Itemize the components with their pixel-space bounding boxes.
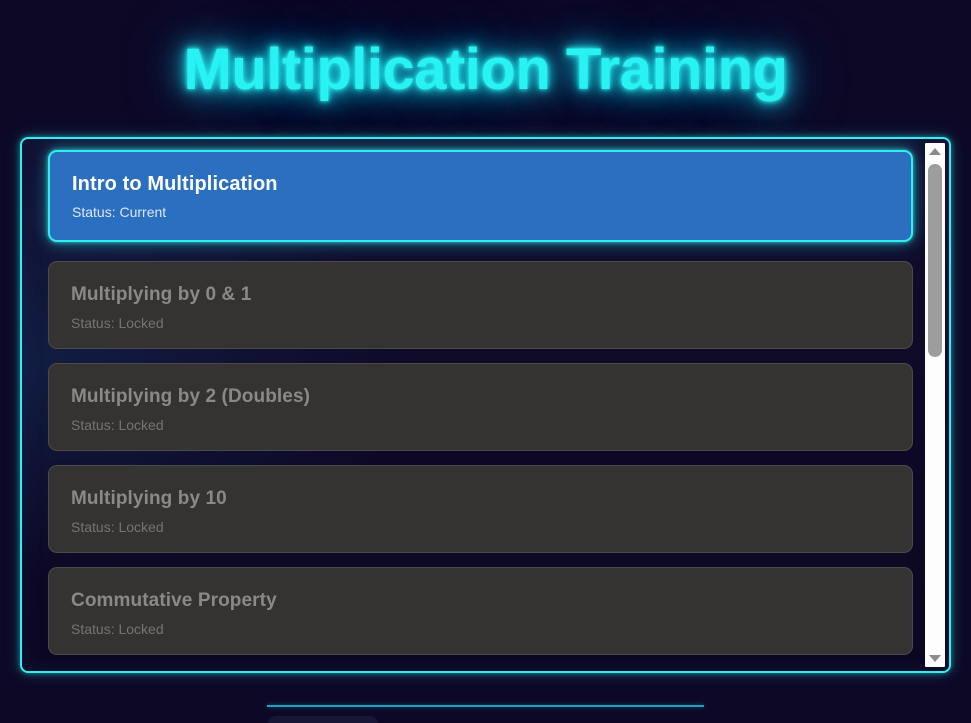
bottom-divider bbox=[267, 705, 704, 707]
lesson-card: Multiplying by 10Status: Locked bbox=[48, 465, 913, 553]
lesson-title: Multiplying by 10 bbox=[71, 487, 890, 511]
lesson-list-panel: Intro to MultiplicationStatus: CurrentMu… bbox=[20, 137, 951, 673]
page-title: Multiplication Training bbox=[0, 36, 971, 104]
lesson-title: Multiplying by 0 & 1 bbox=[71, 283, 890, 307]
scroll-down-button[interactable] bbox=[925, 650, 945, 667]
lesson-card: Multiplying by 0 & 1Status: Locked bbox=[48, 261, 913, 349]
lesson-card: Multiplying by 2 (Doubles)Status: Locked bbox=[48, 363, 913, 451]
lesson-status: Status: Locked bbox=[71, 313, 890, 333]
scroll-up-button[interactable] bbox=[925, 143, 945, 160]
triangle-up-icon bbox=[929, 148, 941, 155]
lesson-title: Commutative Property bbox=[71, 589, 890, 613]
lesson-status: Status: Locked bbox=[71, 415, 890, 435]
offscreen-control-peek[interactable] bbox=[268, 716, 378, 723]
lesson-list: Intro to MultiplicationStatus: CurrentMu… bbox=[48, 150, 913, 655]
scrollbar-thumb[interactable] bbox=[928, 164, 942, 357]
triangle-down-icon bbox=[929, 655, 941, 662]
lesson-scroll-area: Intro to MultiplicationStatus: CurrentMu… bbox=[22, 139, 925, 671]
lesson-title: Intro to Multiplication bbox=[72, 172, 889, 196]
lesson-status: Status: Locked bbox=[71, 619, 890, 639]
lesson-status: Status: Locked bbox=[71, 517, 890, 537]
lesson-status: Status: Current bbox=[72, 202, 889, 222]
lesson-title: Multiplying by 2 (Doubles) bbox=[71, 385, 890, 409]
lesson-card: Commutative PropertyStatus: Locked bbox=[48, 567, 913, 655]
lesson-card[interactable]: Intro to MultiplicationStatus: Current bbox=[48, 150, 913, 242]
vertical-scrollbar[interactable] bbox=[925, 143, 945, 667]
